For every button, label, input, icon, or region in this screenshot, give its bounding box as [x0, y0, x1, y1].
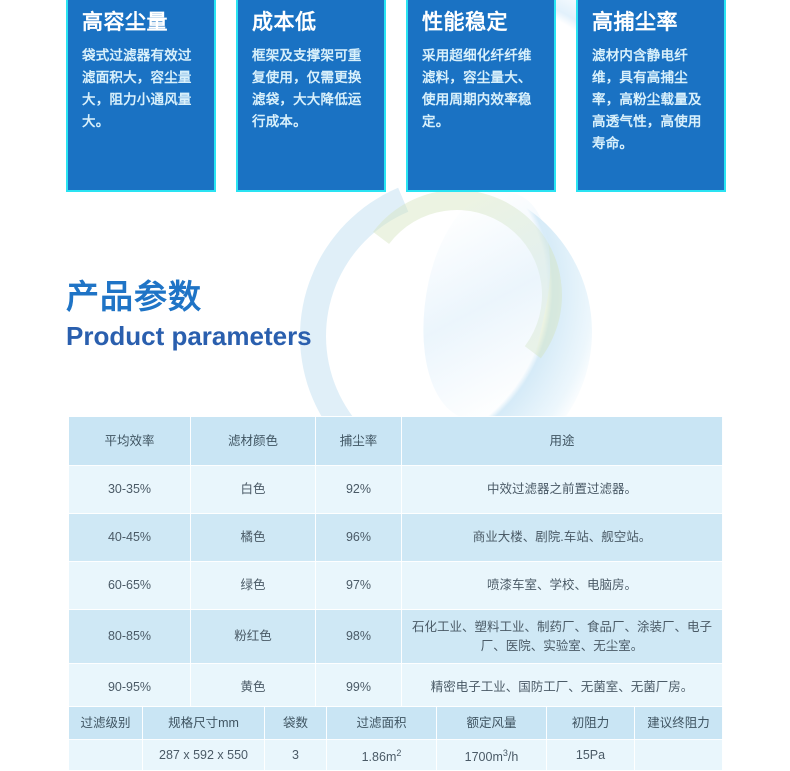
cell-efficiency: 30-35% — [69, 466, 191, 514]
spec-header-final-resistance: 建议终阻力 — [635, 707, 723, 740]
spec-header-row: 过滤级别 规格尺寸mm 袋数 过滤面积 额定风量 初阻力 建议终阻力 — [69, 707, 723, 740]
column-header-application: 用途 — [402, 417, 723, 466]
spec-cell-dimensions: 287 x 592 x 550 — [143, 740, 265, 771]
cell-efficiency: 80-85% — [69, 610, 191, 664]
spec-header-grade: 过滤级别 — [69, 707, 143, 740]
cell-application: 石化工业、塑料工业、制药厂、食品厂、涂装厂、电子厂、医院、实验室、无尘室。 — [402, 610, 723, 664]
spec-cell-final-resistance — [635, 740, 723, 771]
feature-card-title: 性能稳定 — [422, 8, 540, 38]
cell-dust-rate: 97% — [316, 562, 402, 610]
spec-header-bag-count: 袋数 — [265, 707, 327, 740]
feature-card-3[interactable]: 03 性能稳定 采用超细化纤纤维滤料，容尘量大、使用周期内效率稳定。 — [406, 0, 556, 192]
filter-area-unit-exp: 2 — [396, 748, 401, 758]
cell-dust-rate: 92% — [316, 466, 402, 514]
feature-card-desc: 采用超细化纤纤维滤料，容尘量大、使用周期内效率稳定。 — [422, 45, 540, 133]
feature-card-title: 高捕尘率 — [592, 8, 710, 38]
cell-media-color: 粉红色 — [191, 610, 316, 664]
column-header-dust-collection-rate: 捕尘率 — [316, 417, 402, 466]
spec-cell-grade — [69, 740, 143, 771]
watermark-ring-green — [338, 176, 575, 413]
airflow-suffix: /h — [508, 750, 518, 764]
table-row: 80-85% 粉红色 98% 石化工业、塑料工业、制药厂、食品厂、涂装厂、电子厂… — [69, 610, 723, 664]
feature-card-number: 04 — [592, 0, 710, 6]
table-header-row: 平均效率 滤材颜色 捕尘率 用途 — [69, 417, 723, 466]
feature-card-number: 01 — [82, 0, 200, 6]
feature-card-number: 03 — [422, 0, 540, 6]
feature-card-desc: 滤材内含静电纤维，具有高捕尘率，高粉尘载量及高透气性，高使用寿命。 — [592, 45, 710, 155]
product-parameters-table: 平均效率 滤材颜色 捕尘率 用途 30-35% 白色 92% 中效过滤器之前置过… — [68, 416, 723, 712]
table-row: 40-45% 橘色 96% 商业大楼、剧院.车站、舰空站。 — [69, 514, 723, 562]
cell-efficiency: 90-95% — [69, 664, 191, 712]
feature-card-list: 01 高容尘量 袋式过滤器有效过滤面积大，容尘量大，阻力小通风量大。 02 成本… — [0, 0, 790, 192]
spec-cell-bag-count: 3 — [265, 740, 327, 771]
cell-application: 喷漆车室、学校、电脑房。 — [402, 562, 723, 610]
section-title-en: Product parameters — [66, 319, 312, 353]
cell-media-color: 黄色 — [191, 664, 316, 712]
filter-area-value: 1.86m — [362, 750, 397, 764]
feature-card-1[interactable]: 01 高容尘量 袋式过滤器有效过滤面积大，容尘量大，阻力小通风量大。 — [66, 0, 216, 192]
table-row: 60-65% 绿色 97% 喷漆车室、学校、电脑房。 — [69, 562, 723, 610]
cell-media-color: 绿色 — [191, 562, 316, 610]
feature-card-2[interactable]: 02 成本低 框架及支撑架可重复使用，仅需更换滤袋，大大降低运行成本。 — [236, 0, 386, 192]
spec-cell-rated-airflow: 1700m3/h — [437, 740, 547, 771]
cell-efficiency: 60-65% — [69, 562, 191, 610]
spec-header-rated-airflow: 额定风量 — [437, 707, 547, 740]
table-row: 90-95% 黄色 99% 精密电子工业、国防工厂、无菌室、无菌厂房。 — [69, 664, 723, 712]
spec-row: 287 x 592 x 550 3 1.86m2 1700m3/h 15Pa — [69, 740, 723, 771]
cell-application: 商业大楼、剧院.车站、舰空站。 — [402, 514, 723, 562]
specification-table: 过滤级别 规格尺寸mm 袋数 过滤面积 额定风量 初阻力 建议终阻力 287 x… — [68, 706, 723, 771]
feature-card-number: 02 — [252, 0, 370, 6]
column-header-media-color: 滤材颜色 — [191, 417, 316, 466]
feature-card-title: 成本低 — [252, 8, 370, 38]
cell-media-color: 白色 — [191, 466, 316, 514]
cell-media-color: 橘色 — [191, 514, 316, 562]
section-title-cn: 产品参数 — [66, 277, 312, 317]
cell-application: 中效过滤器之前置过滤器。 — [402, 466, 723, 514]
watermark-blade — [402, 180, 567, 430]
spec-cell-filter-area: 1.86m2 — [327, 740, 437, 771]
feature-card-4[interactable]: 04 高捕尘率 滤材内含静电纤维，具有高捕尘率，高粉尘载量及高透气性，高使用寿命… — [576, 0, 726, 192]
spec-cell-initial-resistance: 15Pa — [547, 740, 635, 771]
cell-efficiency: 40-45% — [69, 514, 191, 562]
table-row: 30-35% 白色 92% 中效过滤器之前置过滤器。 — [69, 466, 723, 514]
cell-dust-rate: 96% — [316, 514, 402, 562]
cell-dust-rate: 99% — [316, 664, 402, 712]
cell-application: 精密电子工业、国防工厂、无菌室、无菌厂房。 — [402, 664, 723, 712]
section-heading: 产品参数 Product parameters — [66, 277, 312, 353]
column-header-efficiency: 平均效率 — [69, 417, 191, 466]
cell-dust-rate: 98% — [316, 610, 402, 664]
spec-header-filter-area: 过滤面积 — [327, 707, 437, 740]
airflow-value: 1700m — [465, 750, 503, 764]
spec-header-initial-resistance: 初阻力 — [547, 707, 635, 740]
feature-card-desc: 袋式过滤器有效过滤面积大，容尘量大，阻力小通风量大。 — [82, 45, 200, 133]
spec-header-dimensions: 规格尺寸mm — [143, 707, 265, 740]
feature-card-title: 高容尘量 — [82, 8, 200, 38]
feature-card-desc: 框架及支撑架可重复使用，仅需更换滤袋，大大降低运行成本。 — [252, 45, 370, 133]
